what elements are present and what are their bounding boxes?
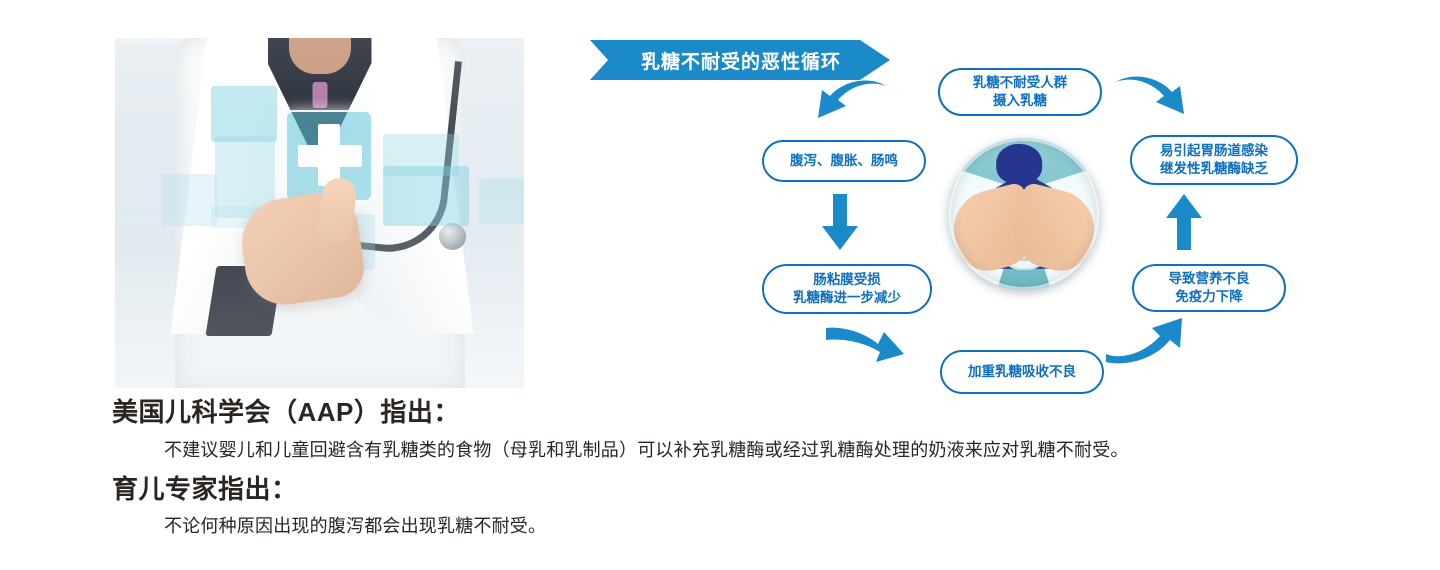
cycle-node-line2: 摄入乳糖 bbox=[993, 93, 1047, 108]
cycle-arrow-bottom-left-icon bbox=[826, 322, 906, 370]
cycle-node-line1: 易引起胃肠道感染 bbox=[1160, 143, 1268, 158]
cycle-arrow-bottom-right-icon bbox=[1106, 318, 1186, 366]
cycle-node-line2: 乳糖酶进一步减少 bbox=[793, 290, 901, 305]
cycle-node-right-up: 易引起胃肠道感染 继发性乳糖酶缺乏 bbox=[1130, 135, 1298, 185]
statements-block: 美国儿科学会（AAP）指出： 不建议婴儿和儿童回避含有乳糖类的食物（母乳和乳制品… bbox=[112, 396, 1412, 541]
photo-overlay bbox=[115, 38, 524, 388]
statement-body-aap: 不建议婴儿和儿童回避含有乳糖类的食物（母乳和乳制品）可以补充乳糖酶或经过乳糖酶处… bbox=[164, 436, 1412, 465]
cycle-node-text: 乳糖不耐受人群 摄入乳糖 bbox=[973, 74, 1068, 110]
statement-body-expert: 不论何种原因出现的腹泻都会出现乳糖不耐受。 bbox=[164, 512, 1412, 541]
cycle-node-line1: 腹泻、腹胀、肠鸣 bbox=[790, 152, 898, 170]
vicious-cycle-diagram: 乳糖不耐受人群 摄入乳糖 易引起胃肠道感染 继发性乳糖酶缺乏 导致营养不良 免疫… bbox=[740, 50, 1320, 400]
cycle-node-bottom: 加重乳糖吸收不良 bbox=[940, 350, 1104, 394]
statement-heading-expert: 育儿专家指出： bbox=[112, 473, 1412, 507]
cycle-node-left-up: 腹泻、腹胀、肠鸣 bbox=[762, 140, 926, 182]
cycle-node-text: 易引起胃肠道感染 继发性乳糖酶缺乏 bbox=[1160, 142, 1268, 178]
cycle-arrow-top-right-icon bbox=[1114, 76, 1186, 124]
infographic-page: 乳糖不耐受的恶性循环 乳糖不耐受人群 摄入乳糖 易引起胃肠道感染 继发性乳糖酶缺… bbox=[0, 0, 1440, 570]
cycle-arrow-top-left-icon bbox=[816, 80, 888, 128]
cycle-node-text: 肠粘膜受损 乳糖酶进一步减少 bbox=[793, 271, 901, 307]
cycle-node-text: 导致营养不良 免疫力下降 bbox=[1169, 270, 1250, 306]
statement-heading-aap: 美国儿科学会（AAP）指出： bbox=[112, 396, 1412, 430]
illustration-ring bbox=[948, 138, 1100, 290]
doctor-photo bbox=[115, 38, 524, 388]
cycle-node-left-down: 肠粘膜受损 乳糖酶进一步减少 bbox=[762, 264, 932, 314]
cycle-node-line2: 免疫力下降 bbox=[1175, 289, 1243, 304]
center-illustration bbox=[948, 138, 1100, 290]
cycle-node-line1: 肠粘膜受损 bbox=[813, 272, 881, 287]
cycle-node-line2: 继发性乳糖酶缺乏 bbox=[1160, 161, 1268, 176]
cycle-node-line1: 导致营养不良 bbox=[1169, 271, 1250, 286]
cycle-node-right-down: 导致营养不良 免疫力下降 bbox=[1132, 264, 1286, 312]
cycle-node-line1: 加重乳糖吸收不良 bbox=[968, 363, 1076, 381]
cycle-arrow-left-down-icon bbox=[820, 194, 860, 252]
cycle-arrow-right-up-icon bbox=[1164, 194, 1204, 252]
cycle-node-line1: 乳糖不耐受人群 bbox=[973, 75, 1068, 90]
cycle-node-top: 乳糖不耐受人群 摄入乳糖 bbox=[938, 68, 1102, 116]
